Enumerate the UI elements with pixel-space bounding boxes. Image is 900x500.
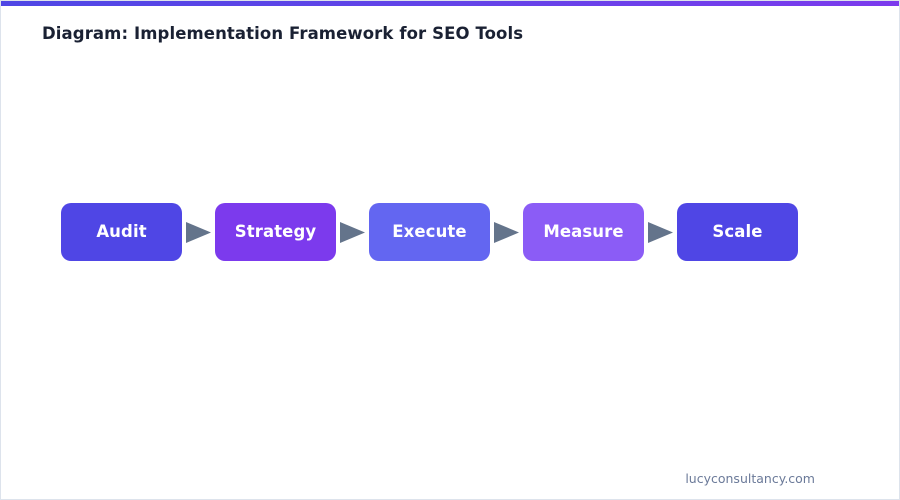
arrow-right-triangle-icon [186, 222, 211, 243]
flow-connector-3 [490, 203, 523, 261]
top-accent-bar [1, 1, 900, 6]
flow-node-strategy[interactable]: Strategy [215, 203, 336, 261]
flow-node-measure[interactable]: Measure [523, 203, 644, 261]
flow-node-label: Execute [392, 224, 466, 241]
flow-connector-1 [182, 203, 215, 261]
process-flow: Audit Strategy Execute Measure [61, 203, 798, 261]
flow-node-execute[interactable]: Execute [369, 203, 490, 261]
flow-node-label: Audit [96, 224, 146, 241]
flow-node-label: Measure [543, 224, 623, 241]
arrow-right-triangle-icon [648, 222, 673, 243]
arrow-right-triangle-icon [494, 222, 519, 243]
flow-connector-2 [336, 203, 369, 261]
flow-connector-4 [644, 203, 677, 261]
footer-attribution: lucyconsultancy.com [685, 471, 815, 486]
flow-node-audit[interactable]: Audit [61, 203, 182, 261]
flow-node-label: Scale [712, 224, 762, 241]
flow-node-scale[interactable]: Scale [677, 203, 798, 261]
flow-node-label: Strategy [235, 224, 317, 241]
diagram-canvas: Diagram: Implementation Framework for SE… [0, 0, 900, 500]
arrow-right-triangle-icon [340, 222, 365, 243]
page-title: Diagram: Implementation Framework for SE… [42, 24, 523, 43]
